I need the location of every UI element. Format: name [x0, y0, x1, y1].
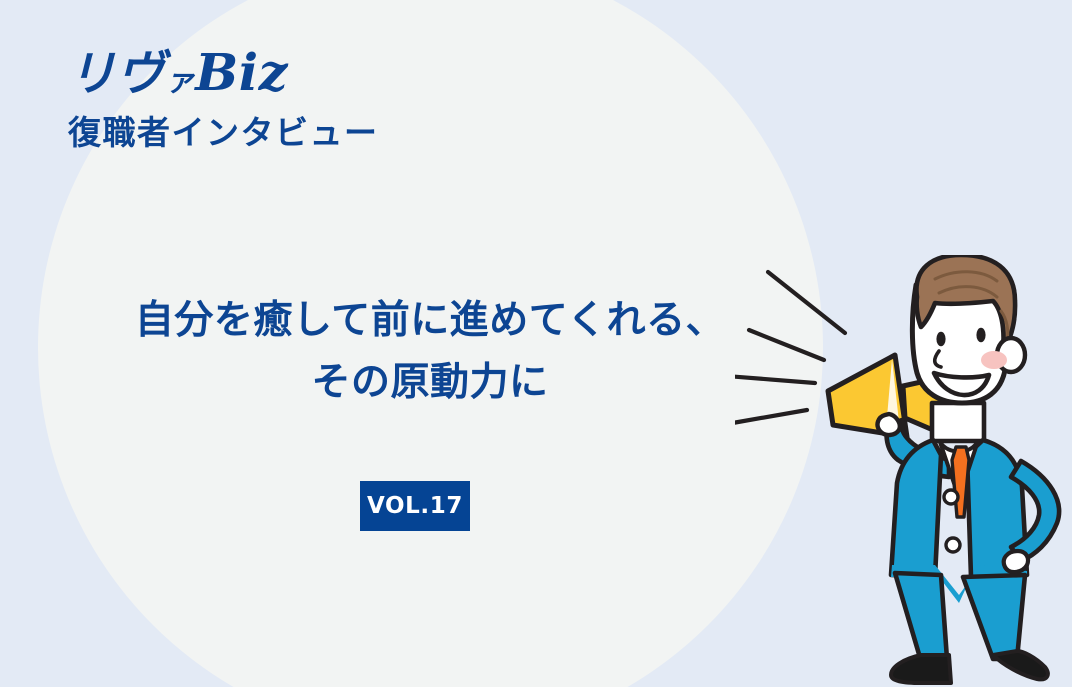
jacket-button-1 [944, 490, 958, 504]
right-leg [963, 575, 1025, 659]
jacket-button-2 [946, 538, 960, 552]
right-eye [976, 328, 985, 342]
businessman-with-megaphone-illustration [735, 255, 1072, 687]
body-group [878, 255, 1060, 683]
right-hand [1004, 551, 1028, 572]
left-hand [878, 414, 900, 435]
interview-banner: リヴァBiz 復職者インタビュー 自分を癒して前に進めてくれる、 その原動力に … [0, 0, 1072, 687]
right-shoe [993, 651, 1048, 679]
businessman-megaphone-svg [735, 255, 1072, 687]
left-leg [895, 573, 947, 661]
headline: 自分を癒して前に進めてくれる、 その原動力に [0, 290, 860, 413]
neck [932, 403, 984, 441]
headline-line-1: 自分を癒して前に進めてくれる、 [0, 290, 860, 352]
cheek-blush [981, 351, 1007, 369]
brand-logo-latin: Biz [195, 42, 288, 102]
sound-line-3 [735, 374, 815, 383]
left-eye [936, 332, 945, 346]
sound-line-4 [735, 410, 807, 425]
sound-line-1 [768, 272, 845, 333]
brand-logo-block: リヴァBiz 復職者インタビュー [68, 47, 488, 152]
necktie [952, 447, 969, 517]
volume-badge-label: VOL.17 [367, 493, 463, 519]
left-shoe [891, 655, 951, 683]
brand-logo-kana-small: ァ [165, 64, 195, 99]
brand-subtitle: 復職者インタビュー [68, 114, 488, 152]
brand-logo: リヴァBiz [68, 47, 488, 98]
brand-logo-kana: リヴ [68, 46, 165, 102]
headline-line-2: その原動力に [0, 352, 860, 414]
volume-badge: VOL.17 [360, 481, 470, 531]
sound-line-2 [749, 330, 824, 360]
